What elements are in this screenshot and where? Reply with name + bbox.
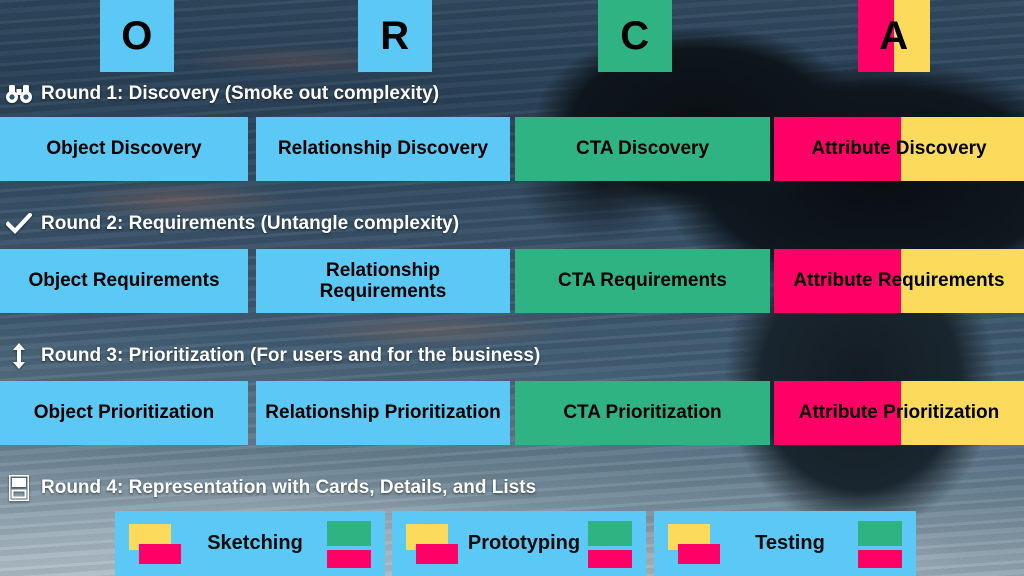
- round-1-heading: Round 1: Discovery (Smoke out complexity…: [6, 80, 439, 108]
- round-3-attribute-cell[interactable]: Attribute Prioritization: [774, 381, 1024, 445]
- round-1-attribute-cell[interactable]: Attribute Discovery: [774, 117, 1024, 181]
- artifact-label-prototyping: Prototyping: [460, 532, 588, 555]
- up-down-arrow-icon: [6, 344, 32, 368]
- round-3-object-cell[interactable]: Object Prioritization: [0, 381, 248, 445]
- acronym-letter-a: A: [858, 0, 930, 72]
- round-4-heading-text: Round 4: Representation with Cards, Deta…: [41, 477, 536, 499]
- round-1-heading-text: Round 1: Discovery (Smoke out complexity…: [41, 83, 439, 105]
- card-stack-icon: [858, 521, 902, 567]
- round-3-cta-cell[interactable]: CTA Prioritization: [515, 381, 770, 445]
- card-layout-icon: [6, 476, 32, 500]
- orca-framework-slide: O R C A Round 1: Discovery (Smoke out co…: [0, 0, 1024, 576]
- round-4-artifact-row: Sketching Prototyping Testing: [0, 511, 1024, 576]
- round-2-relationship-cell[interactable]: Relationship Requirements: [256, 249, 510, 313]
- sketch-pages-icon: [668, 522, 722, 566]
- round-1-object-cell[interactable]: Object Discovery: [0, 117, 248, 181]
- orca-acronym-header: O R C A: [0, 0, 1024, 72]
- round-2-phase-row: Object Requirements Relationship Require…: [0, 249, 1024, 313]
- checkmark-icon: [6, 212, 32, 236]
- round-1-cta-cell[interactable]: CTA Discovery: [515, 117, 770, 181]
- round-2-object-cell[interactable]: Object Requirements: [0, 249, 248, 313]
- sketch-pages-icon: [129, 522, 183, 566]
- card-stack-icon: [327, 521, 371, 567]
- round-2-heading: Round 2: Requirements (Untangle complexi…: [6, 210, 459, 238]
- artifact-box-prototyping[interactable]: Prototyping: [392, 511, 646, 576]
- artifact-box-sketching[interactable]: Sketching: [115, 511, 385, 576]
- sketch-pages-icon: [406, 522, 460, 566]
- acronym-letter-o: O: [100, 0, 174, 72]
- acronym-letter-c: C: [598, 0, 672, 72]
- round-1-phase-row: Object Discovery Relationship Discovery …: [0, 117, 1024, 181]
- round-2-cta-cell[interactable]: CTA Requirements: [515, 249, 770, 313]
- binoculars-icon: [6, 82, 32, 106]
- artifact-label-sketching: Sketching: [183, 532, 327, 555]
- round-4-heading: Round 4: Representation with Cards, Deta…: [6, 474, 536, 502]
- round-3-heading-text: Round 3: Prioritization (For users and f…: [41, 345, 540, 367]
- artifact-label-testing: Testing: [722, 532, 858, 555]
- round-3-phase-row: Object Prioritization Relationship Prior…: [0, 381, 1024, 445]
- acronym-letter-r: R: [358, 0, 432, 72]
- card-stack-icon: [588, 521, 632, 567]
- round-3-relationship-cell[interactable]: Relationship Prioritization: [256, 381, 510, 445]
- artifact-box-testing[interactable]: Testing: [654, 511, 916, 576]
- round-1-relationship-cell[interactable]: Relationship Discovery: [256, 117, 510, 181]
- round-2-attribute-cell[interactable]: Attribute Requirements: [774, 249, 1024, 313]
- round-2-heading-text: Round 2: Requirements (Untangle complexi…: [41, 213, 459, 235]
- round-3-heading: Round 3: Prioritization (For users and f…: [6, 342, 540, 370]
